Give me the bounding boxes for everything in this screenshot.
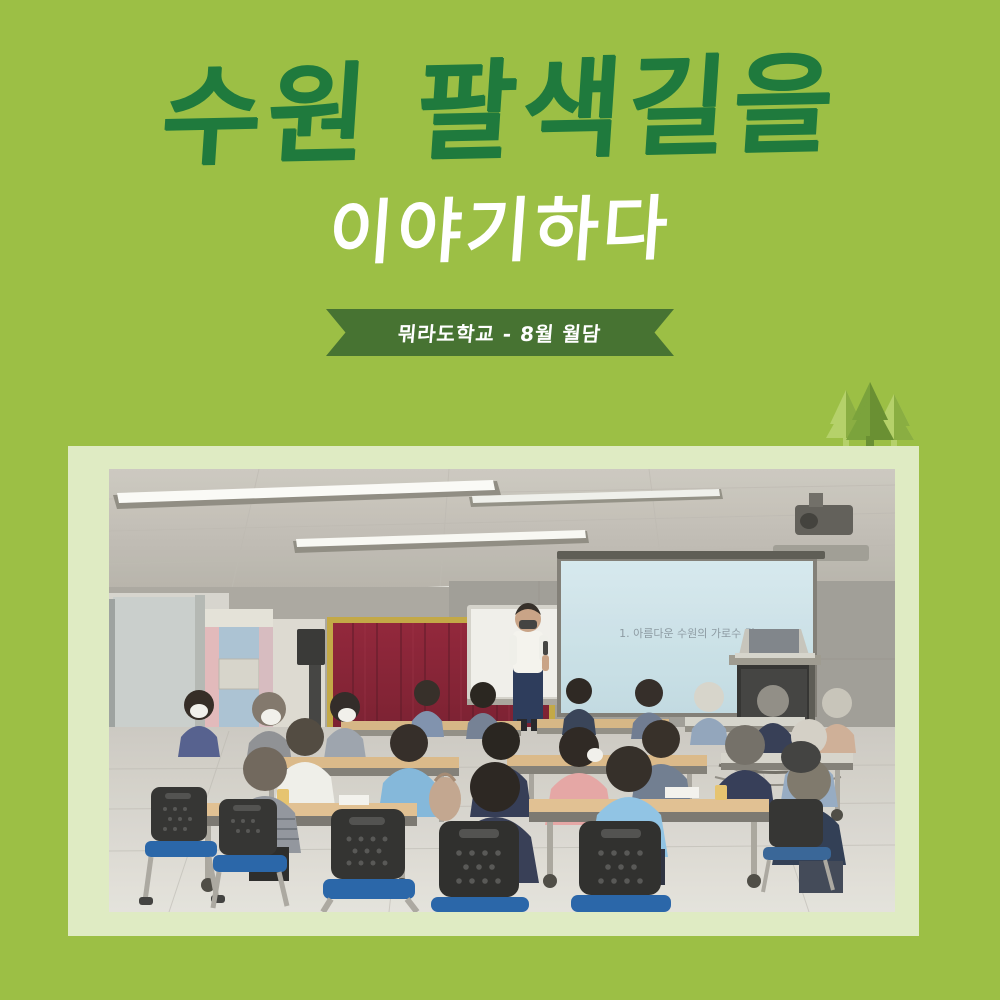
title-block: 수원 팔색길을 이야기하다	[0, 48, 1000, 270]
photo-frame: 1. 아름다운 수원의 가로수 길	[68, 446, 919, 936]
ribbon-shape: 뭐라도학교 - 8월 월담	[326, 309, 674, 356]
promo-card: 수원 팔색길을 이야기하다 뭐라도학교 - 8월 월담	[0, 0, 1000, 1000]
pine-trees-icon	[816, 378, 924, 450]
ribbon-banner: 뭐라도학교 - 8월 월담	[0, 309, 1000, 356]
page-subtitle: 이야기하다	[0, 186, 1000, 277]
ribbon-label: 뭐라도학교 - 8월 월담	[397, 318, 603, 347]
page-title: 수원 팔색길을	[0, 38, 1000, 186]
event-photo: 1. 아름다운 수원의 가로수 길	[109, 469, 895, 912]
